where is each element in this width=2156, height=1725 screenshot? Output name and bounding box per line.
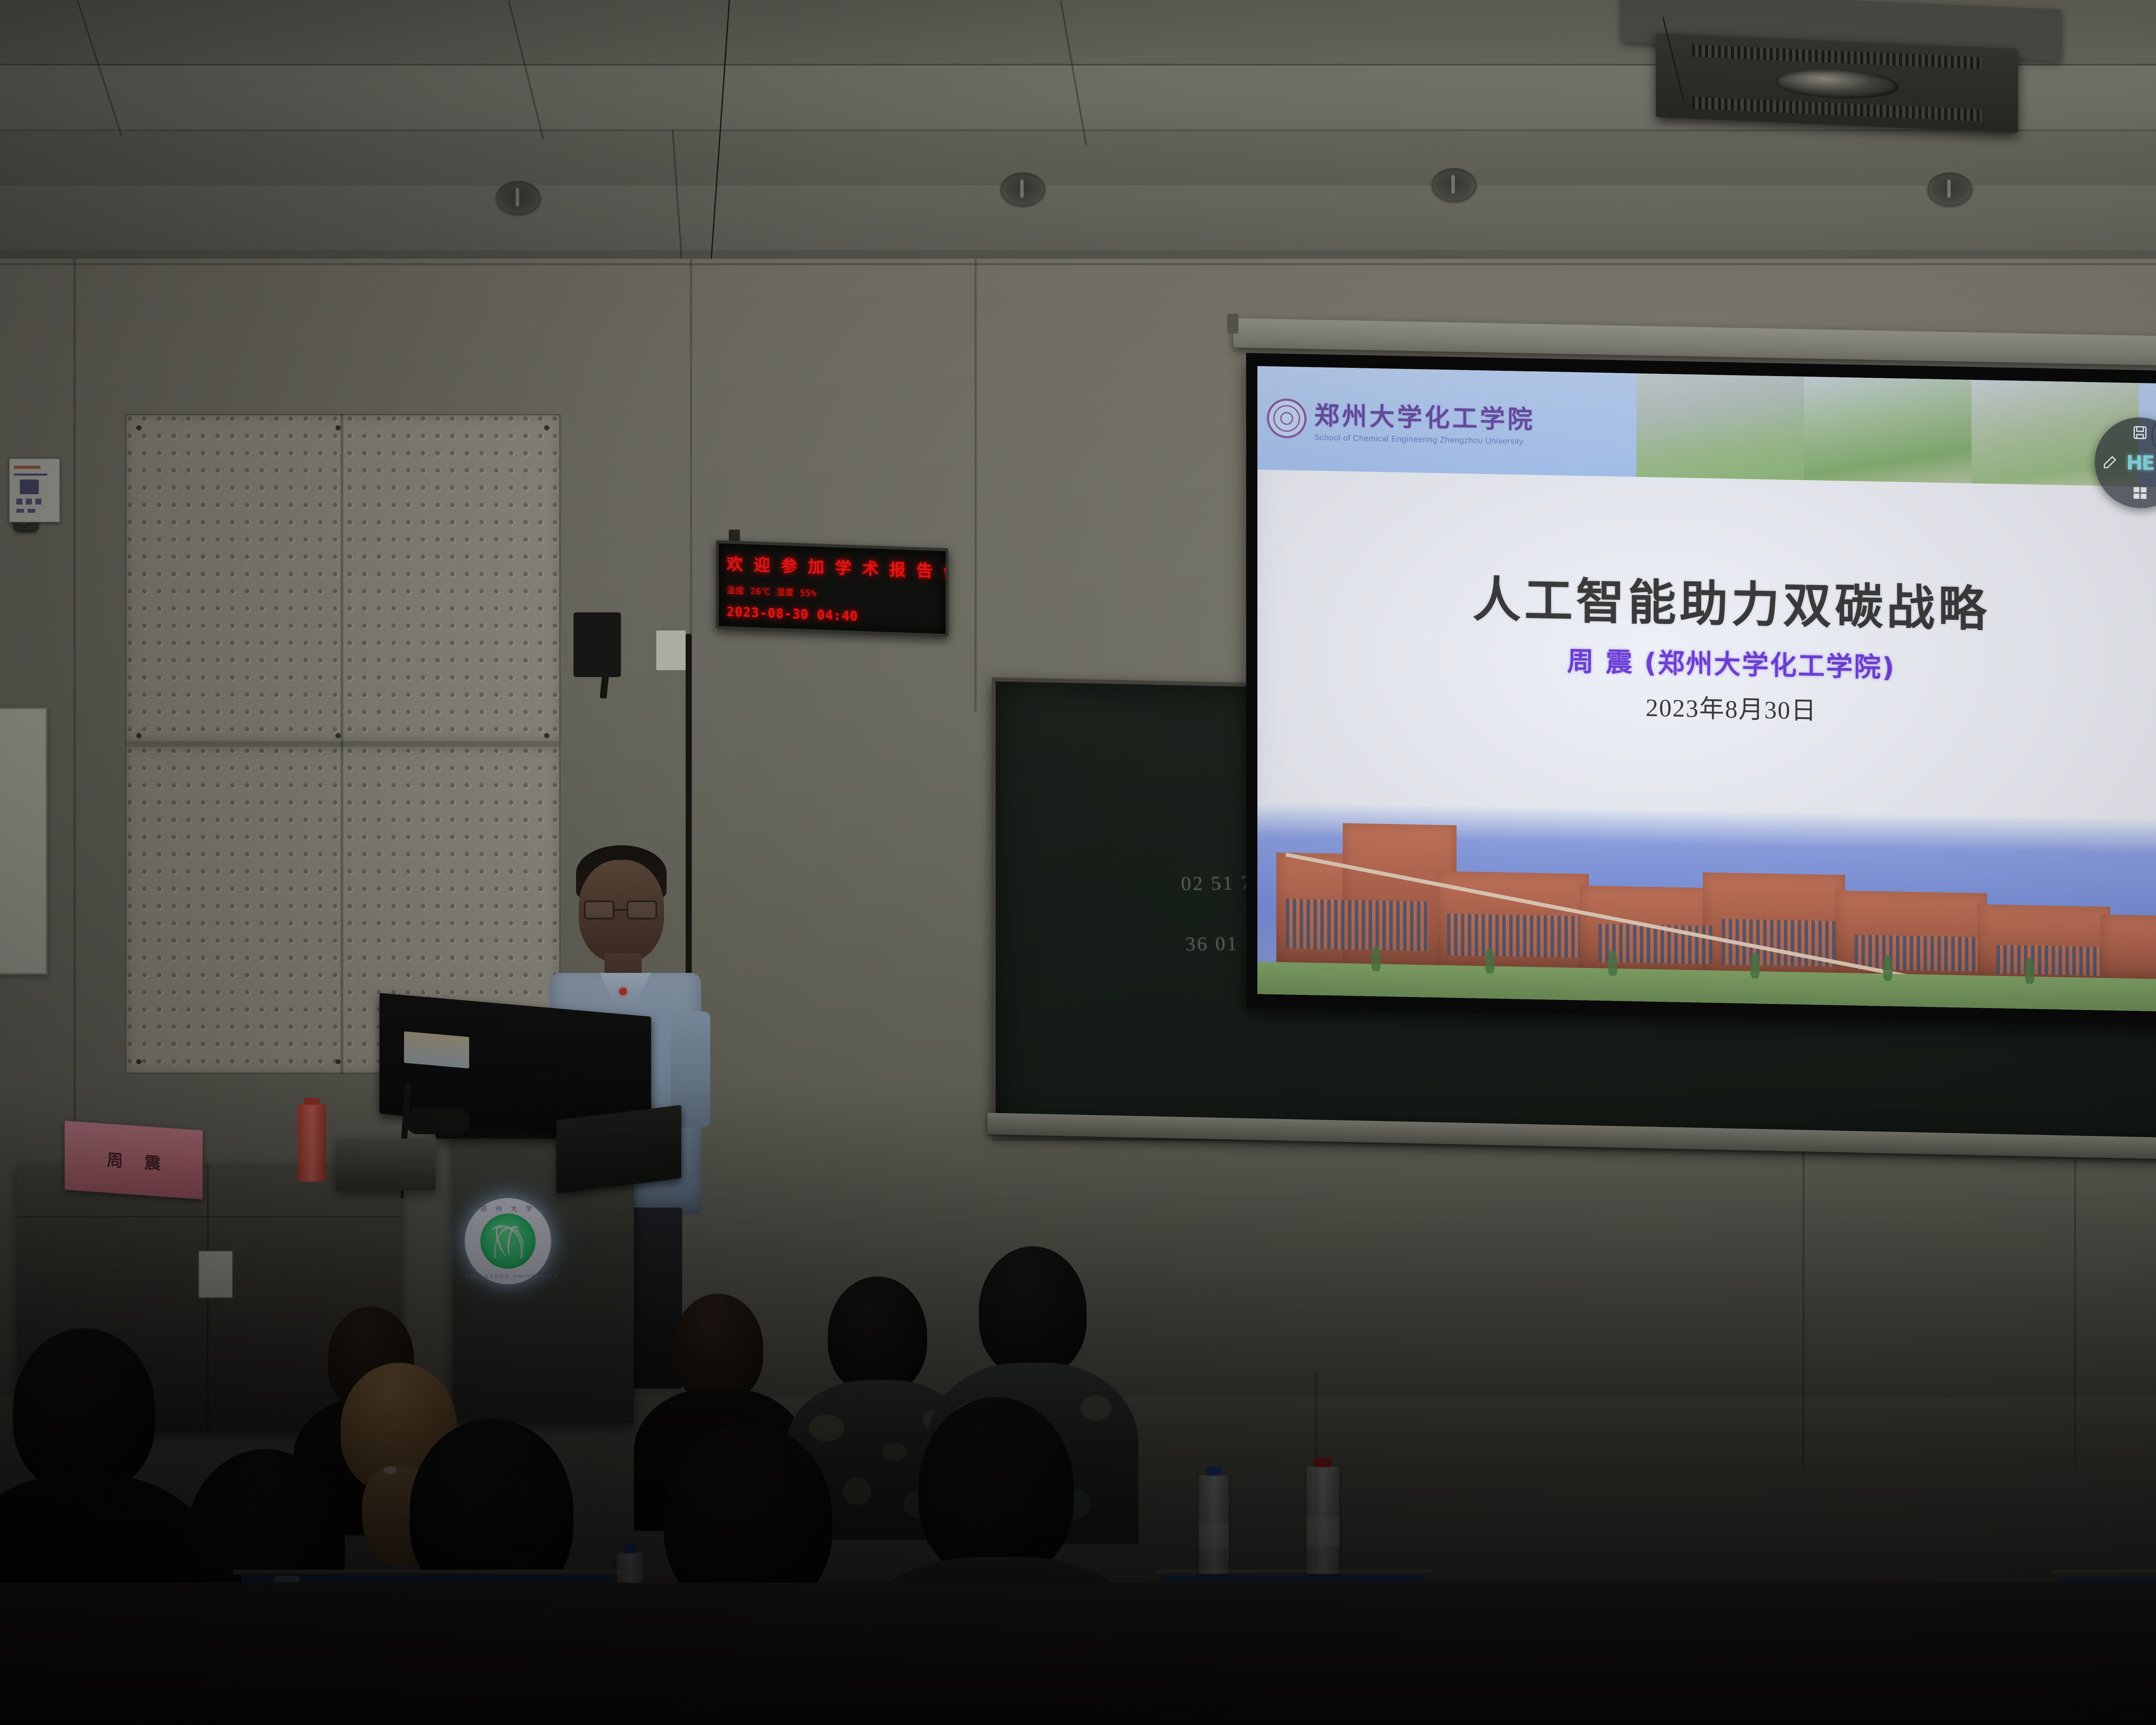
wall-information-sign bbox=[9, 458, 60, 523]
audience-head bbox=[979, 1246, 1087, 1376]
projection-screen: 郑州大学化工学院 School of Chemical Engineering … bbox=[1246, 353, 2156, 1027]
led-row-1: 欢 迎 参 加 学 术 报 告 会 bbox=[727, 550, 949, 582]
ceiling-downlight bbox=[1000, 172, 1045, 206]
projector-lens bbox=[1775, 67, 1899, 101]
slide-org-name-en: School of Chemical Engineering Zhengzhou… bbox=[1314, 433, 1535, 447]
av-control-box bbox=[573, 612, 621, 677]
campus-photo-1 bbox=[1636, 373, 1804, 480]
widget-center-label[interactable]: HE bbox=[2126, 451, 2154, 475]
led-row-3: 2023-08-30 04:40 bbox=[727, 604, 858, 624]
slide-body: 人工智能助力双碳战略 周 震 (郑州大学化工学院) 2023年8月30日 bbox=[1257, 470, 2156, 821]
desk-edge bbox=[233, 1570, 621, 1575]
desk-edge bbox=[1156, 1570, 1432, 1575]
side-whiteboard bbox=[0, 707, 47, 975]
pen-icon[interactable] bbox=[2103, 455, 2117, 470]
water-bottle bbox=[1307, 1466, 1339, 1574]
slide-title: 人工智能助力双碳战略 bbox=[1473, 561, 1990, 640]
slide-header-logo-area: 郑州大学化工学院 School of Chemical Engineering … bbox=[1257, 366, 1636, 477]
slide-header-photo-strip bbox=[1636, 373, 2139, 487]
slide-author: 周 震 (郑州大学化工学院) bbox=[1567, 640, 1896, 685]
presenter-glasses bbox=[584, 900, 657, 919]
slide-header-band: 郑州大学化工学院 School of Chemical Engineering … bbox=[1257, 366, 2156, 488]
slide-org-name-cn: 郑州大学化工学院 bbox=[1314, 395, 1535, 436]
water-bottle bbox=[1199, 1475, 1229, 1574]
desk-edge bbox=[2053, 1570, 2156, 1575]
floor bbox=[0, 1583, 2156, 1725]
zhengzhou-university-seal-icon bbox=[1267, 398, 1307, 439]
wall-power-outlet[interactable] bbox=[655, 630, 686, 671]
lecture-hall-scene: 欢 迎 参 加 学 术 报 告 会 温度 26℃ 湿度 55% 2023-08-… bbox=[0, 0, 2156, 1725]
hair-tie bbox=[384, 1466, 397, 1474]
audience-head bbox=[918, 1397, 1074, 1578]
slide-footer-image bbox=[1257, 803, 2156, 1012]
slide-date: 2023年8月30日 bbox=[1645, 687, 1817, 727]
presentation-slide: 郑州大学化工学院 School of Chemical Engineering … bbox=[1257, 366, 2156, 1012]
monitor-label-sticker bbox=[404, 1031, 469, 1068]
audience-head bbox=[828, 1276, 927, 1393]
audience-head bbox=[673, 1294, 763, 1402]
campus-photo-2 bbox=[1804, 376, 1971, 483]
led-row-2: 温度 26℃ 湿度 55% bbox=[727, 583, 817, 599]
ceiling-downlight bbox=[496, 181, 541, 215]
save-icon[interactable] bbox=[2132, 425, 2148, 441]
ceiling-downlight bbox=[1432, 168, 1476, 202]
audience-head bbox=[13, 1328, 155, 1492]
windows-icon[interactable] bbox=[2132, 485, 2148, 501]
ceiling-projector bbox=[1656, 33, 2018, 133]
ceiling-downlight bbox=[1927, 172, 1972, 206]
led-information-display: 欢 迎 参 加 学 术 报 告 会 温度 26℃ 湿度 55% 2023-08-… bbox=[716, 540, 949, 637]
lapel-microphone bbox=[619, 988, 627, 995]
